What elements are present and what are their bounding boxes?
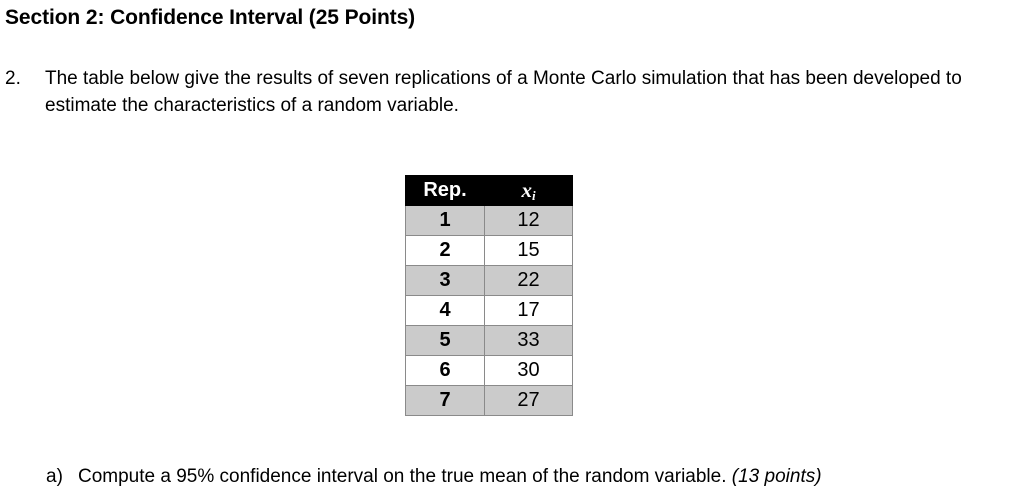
page-title: Section 2: Confidence Interval (25 Point… (5, 6, 415, 30)
table-row: 112 (406, 206, 573, 236)
cell-rep: 7 (406, 386, 485, 416)
cell-rep: 4 (406, 296, 485, 326)
column-header-xi: xi (485, 176, 573, 206)
table-row: 533 (406, 326, 573, 356)
subquestion-text: Compute a 95% confidence interval on the… (78, 464, 1006, 490)
cell-rep: 3 (406, 266, 485, 296)
replications-table-container: Rep. xi 112215322417533630727 (405, 175, 573, 416)
table-row: 215 (406, 236, 573, 266)
subquestion-points: (13 points) (732, 466, 822, 487)
table-header: Rep. xi (406, 176, 573, 206)
cell-value: 27 (485, 386, 573, 416)
table-body: 112215322417533630727 (406, 206, 573, 416)
xi-symbol: xi (521, 178, 535, 202)
question-number: 2. (5, 65, 45, 92)
xi-subscript: i (532, 188, 536, 203)
cell-value: 17 (485, 296, 573, 326)
cell-value: 12 (485, 206, 573, 236)
table-row: 322 (406, 266, 573, 296)
table-row: 417 (406, 296, 573, 326)
subquestion-letter: a) (46, 464, 78, 490)
table-header-row: Rep. xi (406, 176, 573, 206)
cell-value: 15 (485, 236, 573, 266)
cell-value: 22 (485, 266, 573, 296)
table-row: 727 (406, 386, 573, 416)
cell-value: 33 (485, 326, 573, 356)
subquestion-prompt: Compute a 95% confidence interval on the… (78, 466, 727, 487)
cell-value: 30 (485, 356, 573, 386)
question-item: 2. The table below give the results of s… (5, 65, 990, 119)
question-text: The table below give the results of seve… (45, 65, 990, 119)
cell-rep: 5 (406, 326, 485, 356)
table-row: 630 (406, 356, 573, 386)
replications-table: Rep. xi 112215322417533630727 (405, 175, 573, 416)
xi-base: x (521, 178, 532, 202)
subquestion-item: a) Compute a 95% confidence interval on … (46, 464, 1006, 490)
column-header-rep: Rep. (406, 176, 485, 206)
cell-rep: 6 (406, 356, 485, 386)
cell-rep: 2 (406, 236, 485, 266)
cell-rep: 1 (406, 206, 485, 236)
